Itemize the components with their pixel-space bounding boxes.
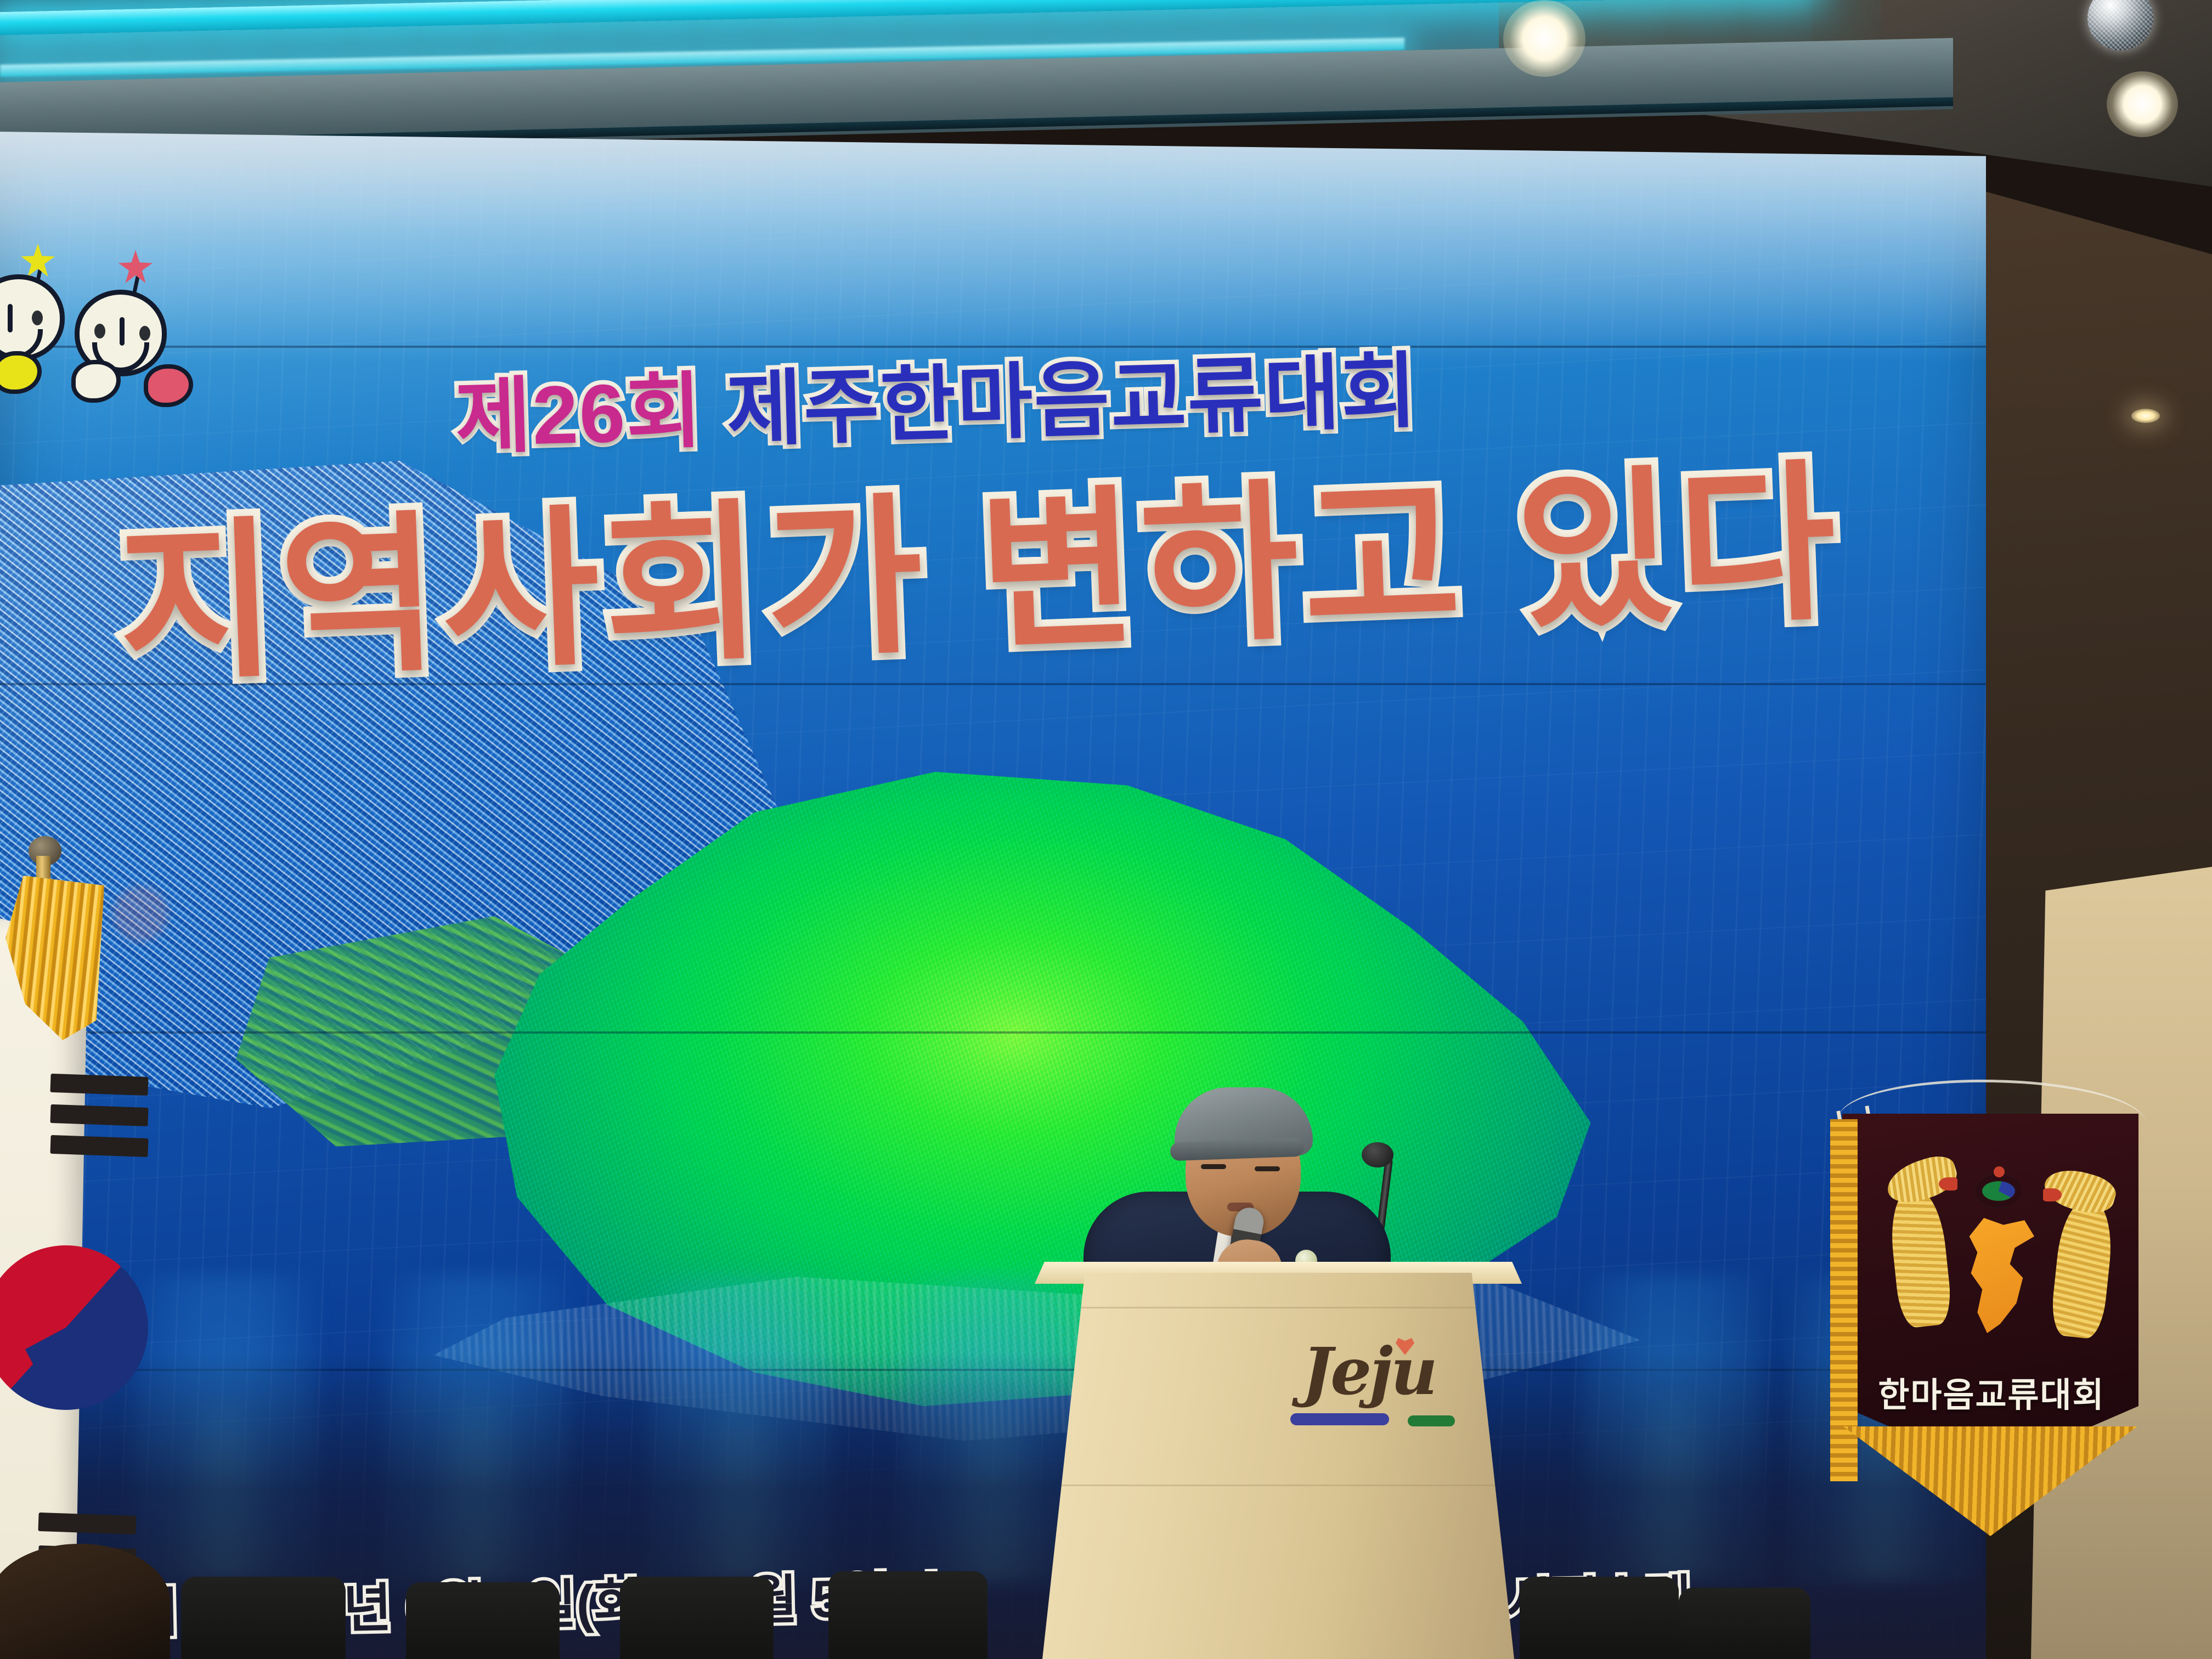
chair (406, 1582, 560, 1659)
conference-backdrop-banner: 제26회 제주한마음교류대회 지역사회가 변하고 있다 일시 : 2019년 6… (0, 132, 1986, 1659)
pennant-disability-logo-icon (1975, 1174, 2022, 1208)
jeju-logo-blue-bar (1290, 1413, 1389, 1425)
phoenix-beak-right (2043, 1188, 2062, 1201)
chair (828, 1571, 988, 1659)
ceiling-downlight (1503, 0, 1585, 77)
wall-downlight (2131, 409, 2160, 423)
pennant-text: 한마음교류대회 (1854, 1367, 2129, 1417)
speaker-eye-right (1255, 1166, 1280, 1171)
photo-stage: 제26회 제주한마음교류대회 지역사회가 변하고 있다 일시 : 2019년 6… (0, 0, 2212, 1659)
podium-lectern (1042, 1273, 1514, 1659)
jeju-logo-green-bar (1408, 1415, 1455, 1426)
podium-seam (1042, 1307, 1514, 1308)
mascot-characters (0, 258, 214, 395)
chair (1520, 1577, 1679, 1659)
chair (181, 1577, 346, 1659)
chair (620, 1577, 774, 1659)
speaker-eye-left (1201, 1164, 1226, 1169)
podium-seam (1042, 1485, 1514, 1486)
jeju-wordmark: Jeju (1278, 1333, 1459, 1409)
podium-jeju-logo: Jeju (1278, 1333, 1459, 1437)
audience-member-head (0, 1544, 170, 1659)
flag-trigram-top (50, 1075, 155, 1174)
banner-seam (0, 1031, 1986, 1034)
chair (1679, 1588, 1810, 1659)
mascot-hand (0, 351, 42, 394)
ceiling-downlight (2107, 71, 2178, 137)
banner-sky-haze (0, 132, 1986, 362)
phoenix-beak-left (1939, 1177, 1957, 1190)
